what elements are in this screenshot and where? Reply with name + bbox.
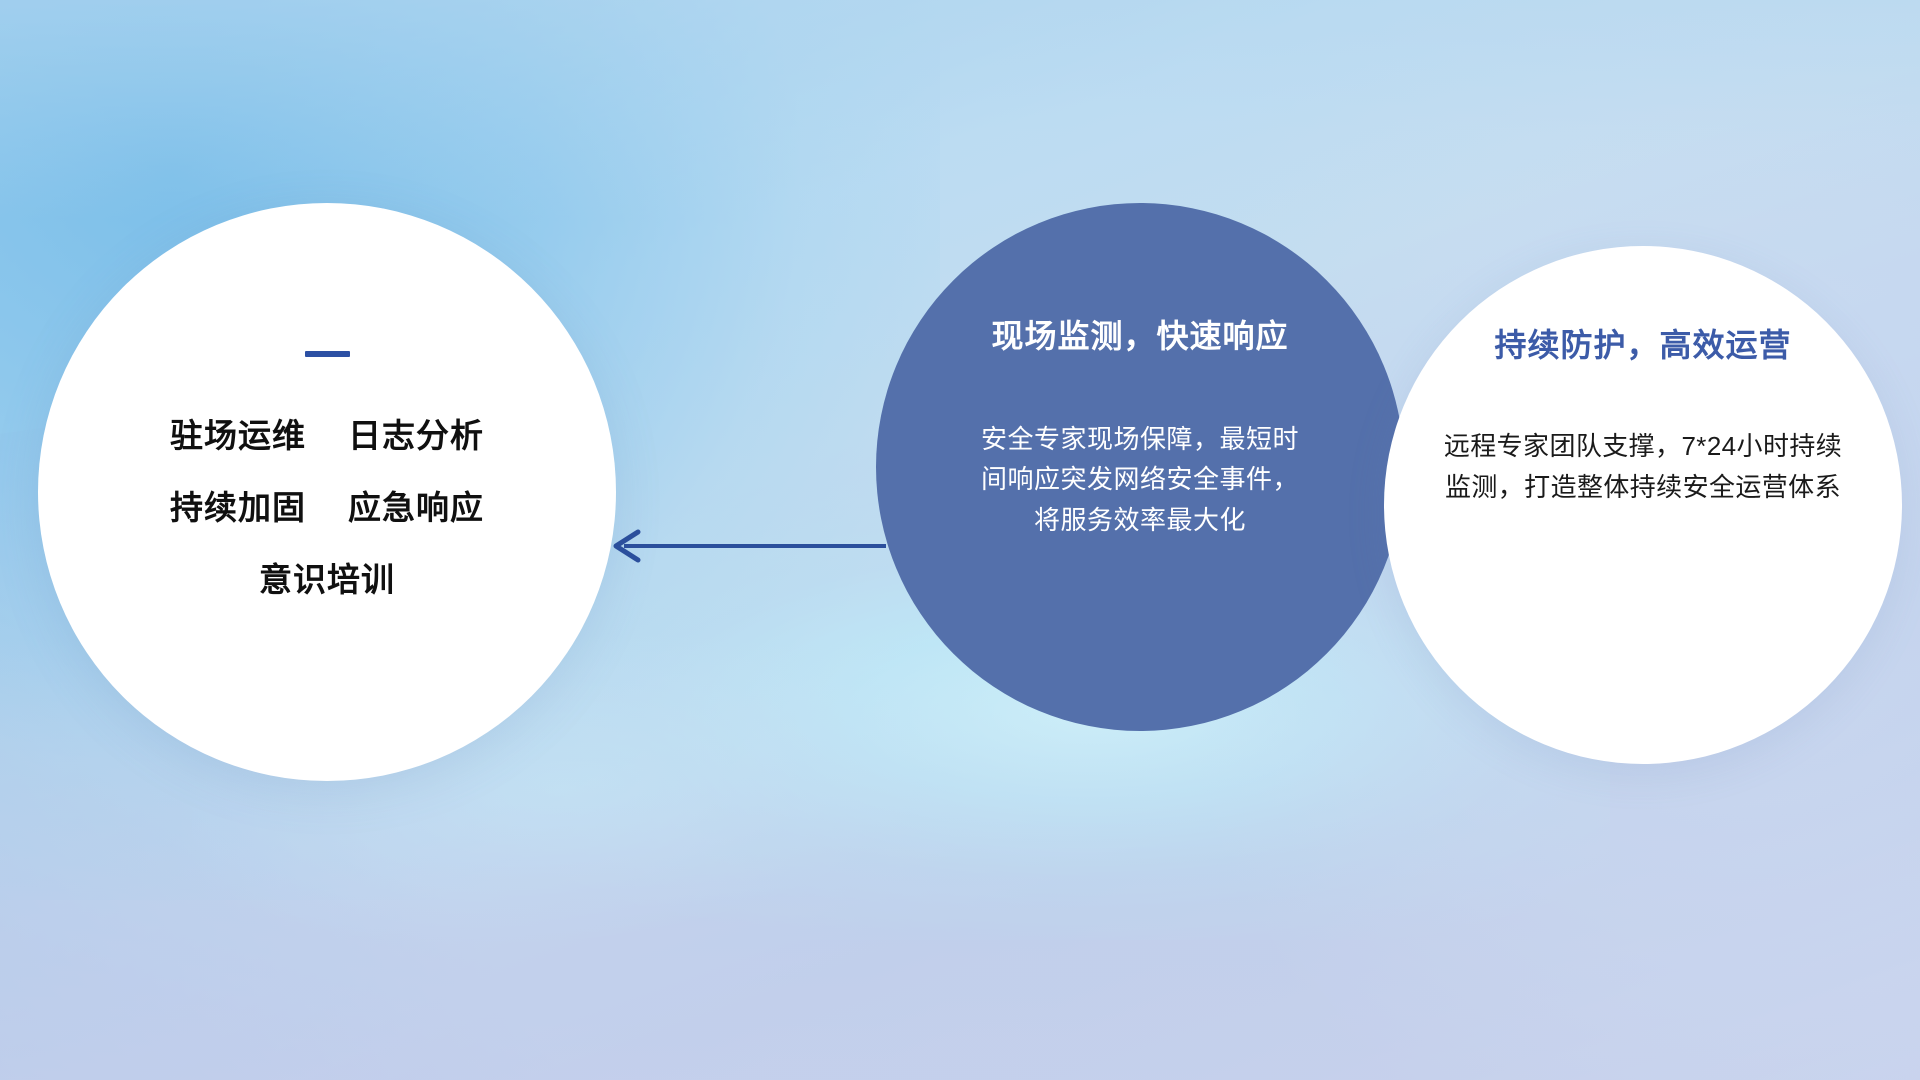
continuous-protection-circle: 持续防护，高效运营 远程专家团队支撑，7*24小时持续监测，打造整体持续安全运营…	[1384, 246, 1902, 764]
onsite-monitoring-heading: 现场监测，快速响应	[991, 311, 1288, 357]
capabilities-list: 驻场运维 日志分析 持续加固 应急响应 意识培训	[170, 409, 484, 601]
capability-row: 驻场运维 日志分析	[170, 409, 484, 457]
continuous-protection-body: 远程专家团队支撑，7*24小时持续监测，打造整体持续安全运营体系	[1433, 426, 1853, 508]
capability-item: 持续加固	[170, 481, 306, 529]
continuous-protection-heading: 持续防护，高效运营	[1494, 320, 1791, 366]
onsite-monitoring-body: 安全专家现场保障，最短时间响应突发网络安全事件，将服务效率最大化	[975, 419, 1305, 540]
capability-row: 意识培训	[259, 553, 395, 601]
horizontal-dash-accent-icon	[305, 351, 350, 357]
capability-item: 意识培训	[259, 553, 395, 601]
arrow-left-icon	[598, 528, 888, 564]
capability-item: 应急响应	[348, 481, 484, 529]
diagram-canvas: 驻场运维 日志分析 持续加固 应急响应 意识培训 现场监测，快速响应 安全专家现…	[0, 0, 1920, 1080]
capability-row: 持续加固 应急响应	[170, 481, 484, 529]
onsite-monitoring-circle: 现场监测，快速响应 安全专家现场保障，最短时间响应突发网络安全事件，将服务效率最…	[876, 203, 1404, 731]
capabilities-circle: 驻场运维 日志分析 持续加固 应急响应 意识培训	[38, 203, 616, 781]
capability-item: 日志分析	[348, 409, 484, 457]
capability-item: 驻场运维	[170, 409, 306, 457]
